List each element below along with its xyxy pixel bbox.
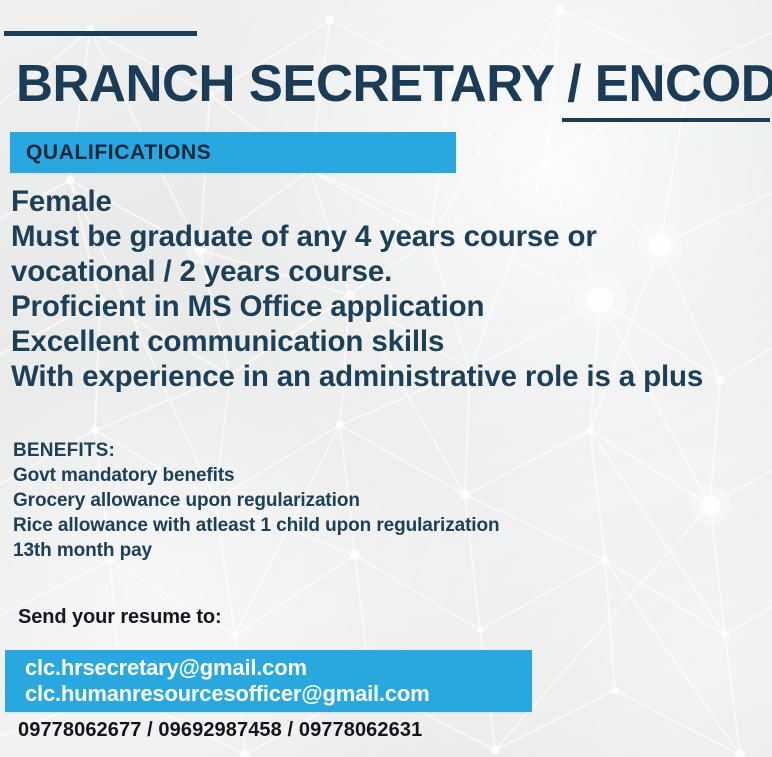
email-address[interactable]: clc.humanresourcesofficer@gmail.com — [5, 681, 532, 707]
benefit-item: Grocery allowance upon regularization — [13, 488, 653, 513]
decorative-rule-top-right — [562, 118, 770, 122]
decorative-rule-top-left — [4, 31, 197, 36]
qualification-item: Proficient in MS Office application — [11, 289, 741, 324]
benefits-heading: BENEFITS: — [13, 438, 653, 463]
qualification-item: Must be graduate of any 4 years course o… — [11, 219, 741, 289]
benefit-item: 13th month pay — [13, 538, 653, 563]
benefit-item: Govt mandatory benefits — [13, 463, 653, 488]
job-posting-poster: BRANCH SECRETARY / ENCODER QUALIFICATION… — [0, 0, 772, 757]
email-address[interactable]: clc.hrsecretary@gmail.com — [5, 655, 532, 681]
send-resume-label: Send your resume to: — [18, 606, 222, 629]
email-contact-box: clc.hrsecretary@gmail.com clc.humanresou… — [5, 650, 532, 712]
benefits-section: BENEFITS: Govt mandatory benefits Grocer… — [13, 438, 653, 563]
qualification-item: Female — [11, 184, 741, 219]
qualifications-list: Female Must be graduate of any 4 years c… — [11, 184, 741, 394]
phone-numbers[interactable]: 09778062677 / 09692987458 / 09778062631 — [18, 719, 422, 742]
qualification-item: Excellent communication skills — [11, 324, 741, 359]
qualification-item: With experience in an administrative rol… — [11, 359, 741, 394]
qualifications-banner: QUALIFICATIONS — [10, 132, 456, 173]
page-title: BRANCH SECRETARY / ENCODER — [16, 58, 772, 110]
qualifications-banner-label: QUALIFICATIONS — [10, 141, 211, 165]
benefit-item: Rice allowance with atleast 1 child upon… — [13, 513, 653, 538]
